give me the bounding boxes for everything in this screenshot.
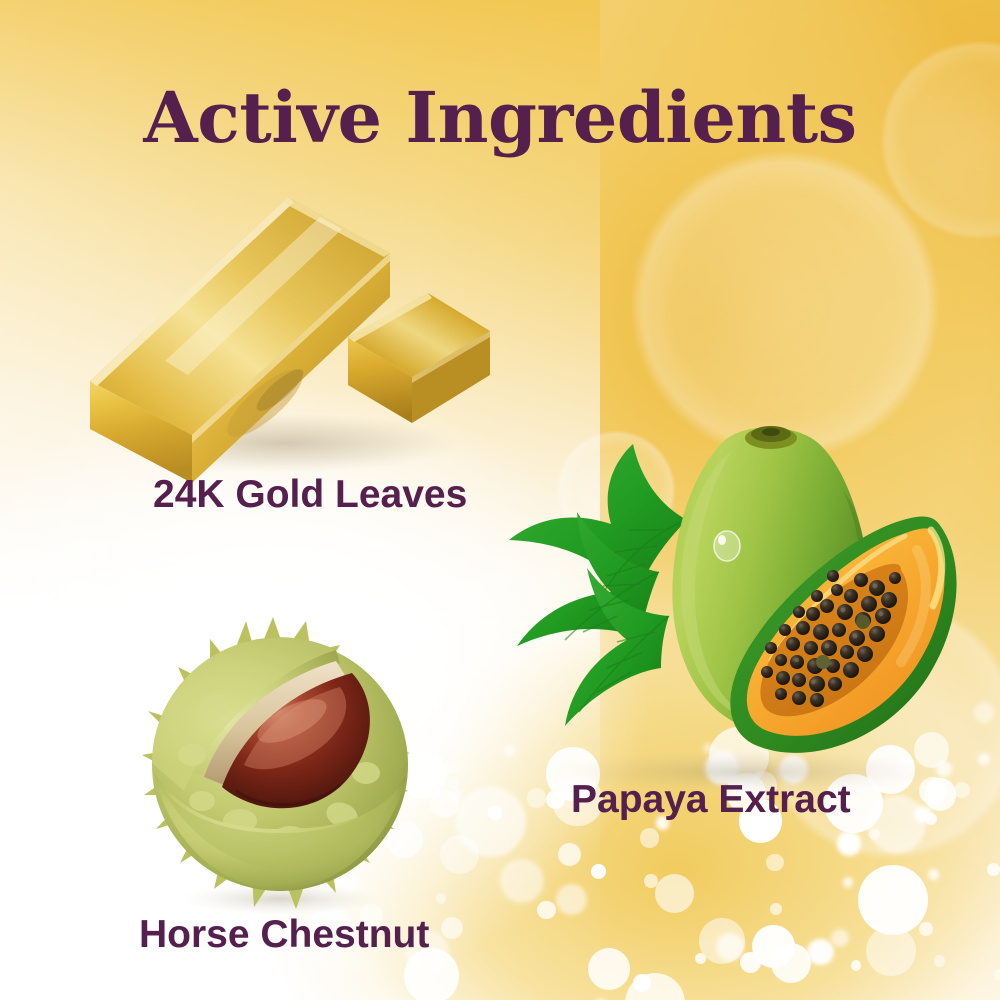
papaya-icon xyxy=(465,400,985,800)
horse-chestnut-icon xyxy=(140,615,420,915)
gold-bars-icon xyxy=(70,185,500,475)
active-ingredients-poster: Active Ingredients xyxy=(0,0,1000,1000)
papaya-leaves xyxy=(509,444,687,726)
ingredient-label-gold: 24K Gold Leaves xyxy=(153,473,467,517)
ingredient-label-chestnut: Horse Chestnut xyxy=(139,913,429,957)
page-title: Active Ingredients xyxy=(0,76,1000,159)
water-droplet xyxy=(714,531,740,561)
ingredient-label-papaya: Papaya Extract xyxy=(571,778,851,822)
